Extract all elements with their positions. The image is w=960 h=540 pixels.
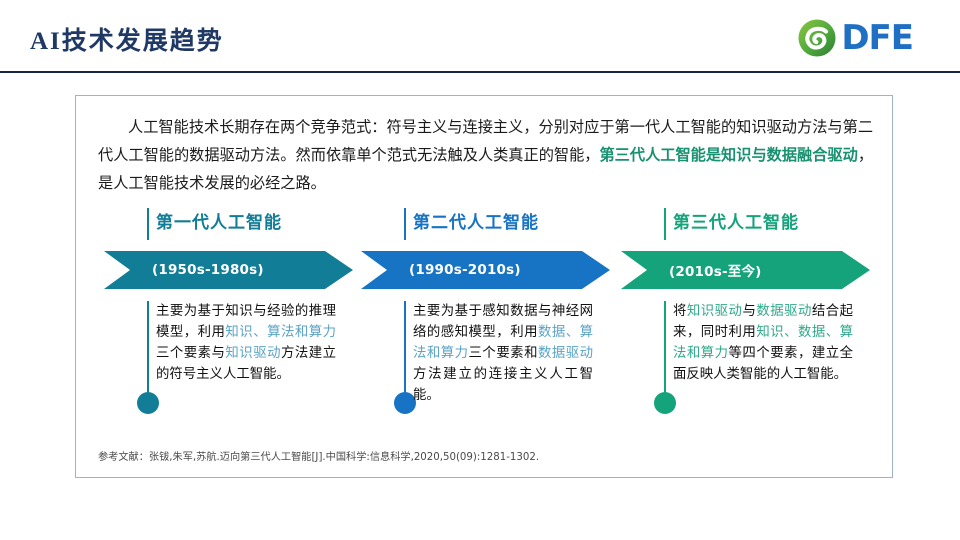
body-segment: 方法建立的连接主义人工智能。 <box>413 367 593 403</box>
generation-column-1: 第一代人工智能 (1950s-1980s) 主要为基于知识与经验的推理模型，利用… <box>104 206 370 441</box>
generation-body-3: 将知识驱动与数据驱动结合起来，同时利用知识、数据、算法和算力等四个要素，建立全面… <box>673 301 853 385</box>
generation-banner-1[interactable]: (1950s-1980s) <box>104 251 353 289</box>
brand-logo: DFE <box>797 18 913 58</box>
title-tick-1 <box>147 208 149 240</box>
body-segment: 数据驱动 <box>756 304 812 319</box>
title-tick-3 <box>664 208 666 240</box>
page-title: AI技术发展趋势 <box>30 21 224 57</box>
reference-citation: 参考文献：张钹,朱军,苏航.迈向第三代人工智能[J].中国科学:信息科学,202… <box>98 448 539 463</box>
generation-banner-3[interactable]: (2010s-至今) <box>621 251 870 289</box>
column-stem-1 <box>147 301 149 396</box>
body-segment: 与 <box>742 304 756 319</box>
generation-title-3: 第三代人工智能 <box>673 208 799 233</box>
column-stem-3 <box>664 301 666 396</box>
generation-banner-2[interactable]: (1990s-2010s) <box>361 251 610 289</box>
slide-root: AI技术发展趋势 DFE <box>0 0 960 540</box>
slide-header: AI技术发展趋势 DFE <box>0 0 960 73</box>
body-segment: 数据驱动 <box>538 346 593 361</box>
generation-period-1: (1950s-1980s) <box>152 262 264 278</box>
title-tick-2 <box>404 208 406 240</box>
body-segment: 知识驱动 <box>687 304 743 319</box>
generation-period-2: (1990s-2010s) <box>409 262 521 278</box>
column-stem-2 <box>404 301 406 396</box>
generation-title-1: 第一代人工智能 <box>156 208 282 233</box>
body-segment: 知识、算法和算力 <box>225 325 336 340</box>
generation-body-2: 主要为基于感知数据与神经网络的感知模型，利用数据、算法和算力三个要素和数据驱动方… <box>413 301 593 406</box>
e-swirl-logo-icon <box>797 18 837 58</box>
body-segment: 三个要素与 <box>156 346 225 361</box>
intro-highlight: 第三代人工智能是知识与数据融合驱动 <box>599 146 857 164</box>
column-dot-3 <box>654 392 676 414</box>
body-segment: 知识驱动 <box>225 346 281 361</box>
generations-row: 第一代人工智能 (1950s-1980s) 主要为基于知识与经验的推理模型，利用… <box>76 206 894 441</box>
column-dot-1 <box>137 392 159 414</box>
generation-title-2: 第二代人工智能 <box>413 208 539 233</box>
generation-body-1: 主要为基于知识与经验的推理模型，利用知识、算法和算力三个要素与知识驱动方法建立的… <box>156 301 336 385</box>
intro-paragraph: 人工智能技术长期存在两个竞争范式：符号主义与连接主义，分别对应于第一代人工智能的… <box>98 113 873 197</box>
body-segment: 三个要素和 <box>469 346 538 361</box>
brand-logo-text: DFE <box>841 21 913 55</box>
generation-column-3: 第三代人工智能 (2010s-至今) 将知识驱动与数据驱动结合起来，同时利用知识… <box>621 206 887 441</box>
body-segment: 将 <box>673 304 687 319</box>
generation-column-2: 第二代人工智能 (1990s-2010s) 主要为基于感知数据与神经网络的感知模… <box>361 206 627 441</box>
content-card: 人工智能技术长期存在两个竞争范式：符号主义与连接主义，分别对应于第一代人工智能的… <box>75 95 893 478</box>
header-divider <box>0 71 960 73</box>
generation-period-3: (2010s-至今) <box>669 260 762 280</box>
